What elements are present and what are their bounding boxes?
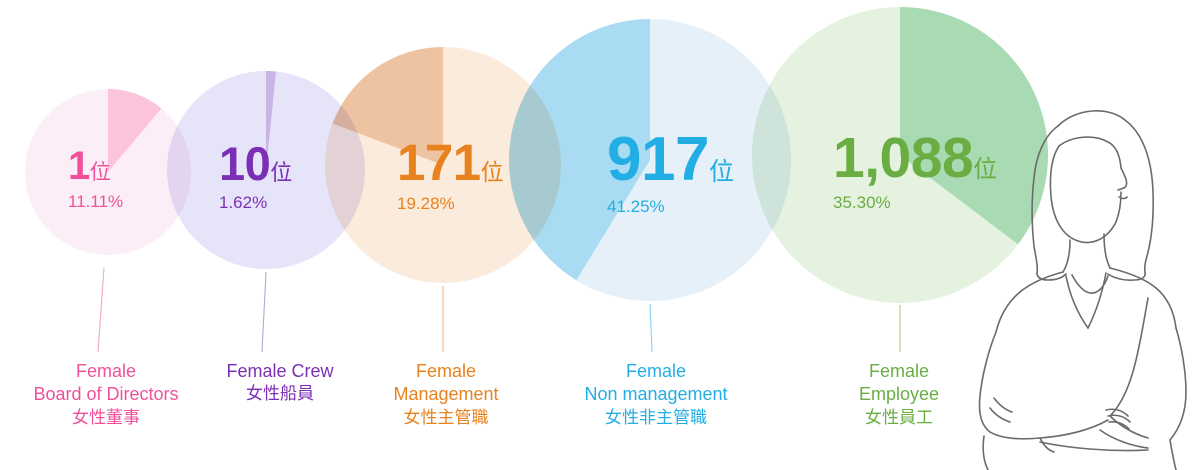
label-en-line2: Board of Directors (0, 383, 212, 406)
infographic-canvas: 1位 11.11% 10位 1.62% 171位 19.28% 917位 41.… (0, 0, 1198, 467)
label-crew: Female Crew 女性船員 (185, 360, 375, 405)
count-value: 10 (219, 137, 270, 190)
label-en-line1: Female (547, 360, 765, 383)
label-board-of-directors: Female Board of Directors 女性董事 (0, 360, 212, 429)
label-jp: 女性非主管職 (547, 407, 765, 429)
count-unit: 位 (90, 161, 111, 184)
label-en-line1: Female (362, 360, 530, 383)
count-unit: 位 (270, 160, 292, 185)
count-unit: 位 (481, 159, 504, 185)
label-en-line1: Female (0, 360, 212, 383)
count-value: 1 (68, 144, 90, 188)
percent-value: 11.11% (68, 193, 123, 210)
value-block-non-management: 917位 41.25% (607, 129, 734, 215)
label-management: Female Management 女性主管職 (362, 360, 530, 429)
percent-value: 19.28% (397, 195, 504, 212)
count-value: 917 (607, 125, 709, 194)
connector-line (98, 268, 104, 352)
label-jp: 女性船員 (185, 383, 375, 405)
value-line: 10位 (219, 140, 292, 187)
value-block-board-of-directors: 1位 11.11% (68, 146, 123, 210)
label-jp: 女性董事 (0, 407, 212, 429)
value-block-management: 171位 19.28% (397, 137, 504, 212)
percent-value: 1.62% (219, 194, 292, 211)
value-line: 171位 (397, 137, 504, 188)
percent-value: 41.25% (607, 198, 734, 215)
label-jp: 女性主管職 (362, 407, 530, 429)
value-line: 917位 (607, 129, 734, 191)
connector-line (262, 272, 266, 352)
label-non-management: Female Non management 女性非主管職 (547, 360, 765, 429)
label-en-line2: Non management (547, 383, 765, 406)
value-block-crew: 10位 1.62% (219, 140, 292, 211)
count-unit: 位 (709, 158, 734, 186)
woman-figure-svg (948, 100, 1198, 470)
label-en-line1: Female Crew (185, 360, 375, 383)
connector-line (650, 304, 652, 352)
woman-line-art-illustration (948, 100, 1198, 470)
value-line: 1位 (68, 146, 123, 186)
count-value: 171 (397, 134, 481, 191)
label-en-line2: Management (362, 383, 530, 406)
